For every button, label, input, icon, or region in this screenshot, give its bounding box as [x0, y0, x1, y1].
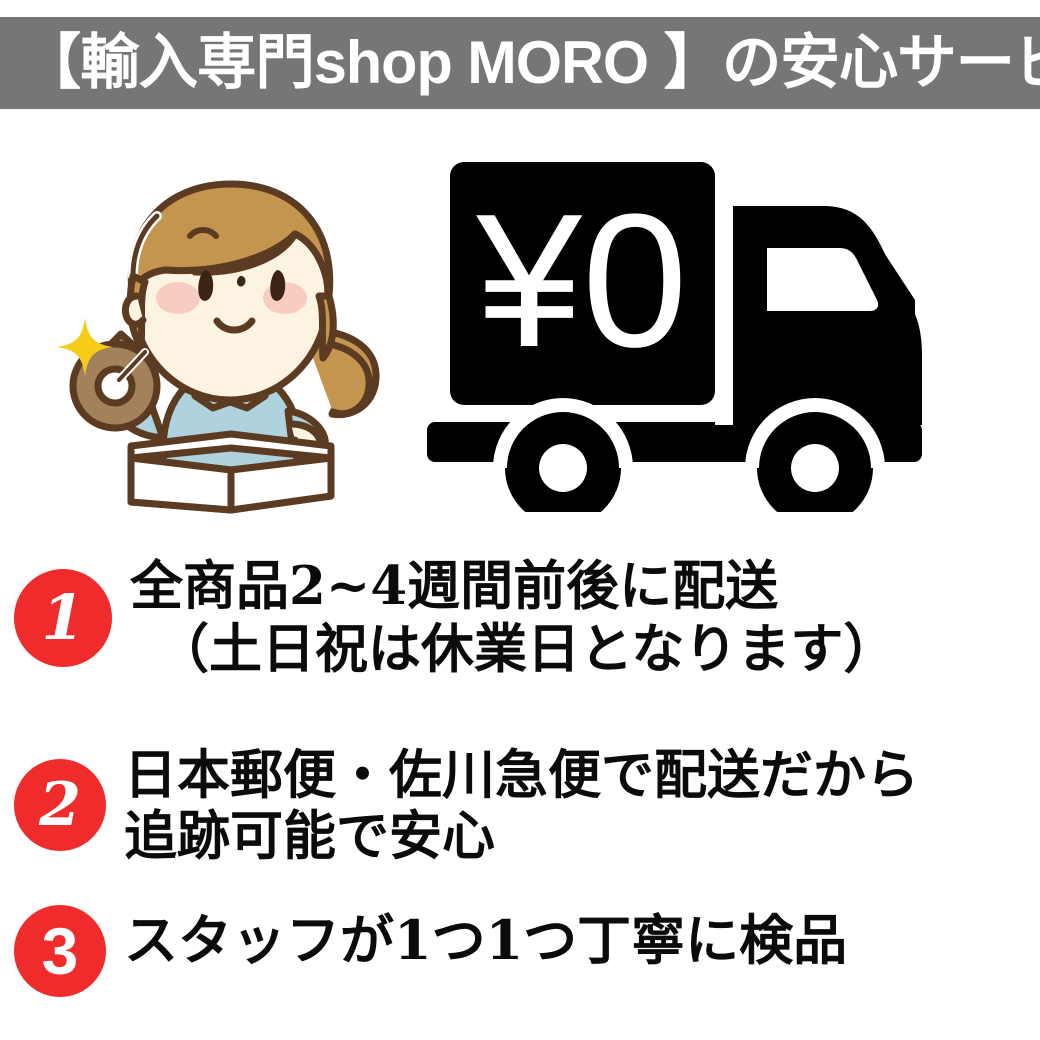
truck-cargo-label: ¥0: [475, 175, 687, 387]
badge-number: 3: [14, 905, 106, 997]
page-title: 【輸入専門shop MORO 】の安心サービス: [0, 33, 1040, 93]
number-badge-1: 1: [14, 569, 112, 667]
list-item-line-2: 追跡可能で安心: [124, 806, 919, 867]
woman-inspecting-parcel-illustration: [45, 146, 415, 516]
list-item: 1 全商品2~4週間前後に配送 （土日祝は休業日となります）: [0, 555, 896, 680]
service-info-graphic: 【輸入専門shop MORO 】の安心サービス: [0, 0, 1040, 1040]
number-badge-3: 3: [14, 905, 106, 997]
number-badge-2: 2: [14, 759, 106, 851]
list-item: 3 スタッフが1つ1つ丁寧に検品: [0, 903, 847, 997]
badge-number: 1: [14, 569, 112, 667]
header-banner: 【輸入専門shop MORO 】の安心サービス: [0, 17, 1040, 109]
delivery-truck-icon: ¥0: [415, 150, 1005, 512]
list-item-line-2: （土日祝は休業日となります）: [130, 618, 896, 681]
badge-number: 2: [14, 759, 106, 851]
illustration-row: ¥0: [0, 118, 1040, 530]
list-item-line-1: スタッフが1つ1つ丁寧に検品: [124, 909, 847, 973]
list-item-text: 日本郵便・佐川急便で配送だから 追跡可能で安心: [124, 745, 919, 868]
list-item-line-1: 全商品2~4週間前後に配送: [130, 555, 896, 618]
service-points-list: 1 全商品2~4週間前後に配送 （土日祝は休業日となります） 2 日本郵便・佐川…: [0, 545, 1040, 1040]
list-item-line-1: 日本郵便・佐川急便で配送だから: [124, 745, 919, 806]
list-item-text: スタッフが1つ1つ丁寧に検品: [124, 909, 847, 973]
list-item-text: 全商品2~4週間前後に配送 （土日祝は休業日となります）: [130, 555, 896, 680]
list-item: 2 日本郵便・佐川急便で配送だから 追跡可能で安心: [0, 745, 919, 868]
